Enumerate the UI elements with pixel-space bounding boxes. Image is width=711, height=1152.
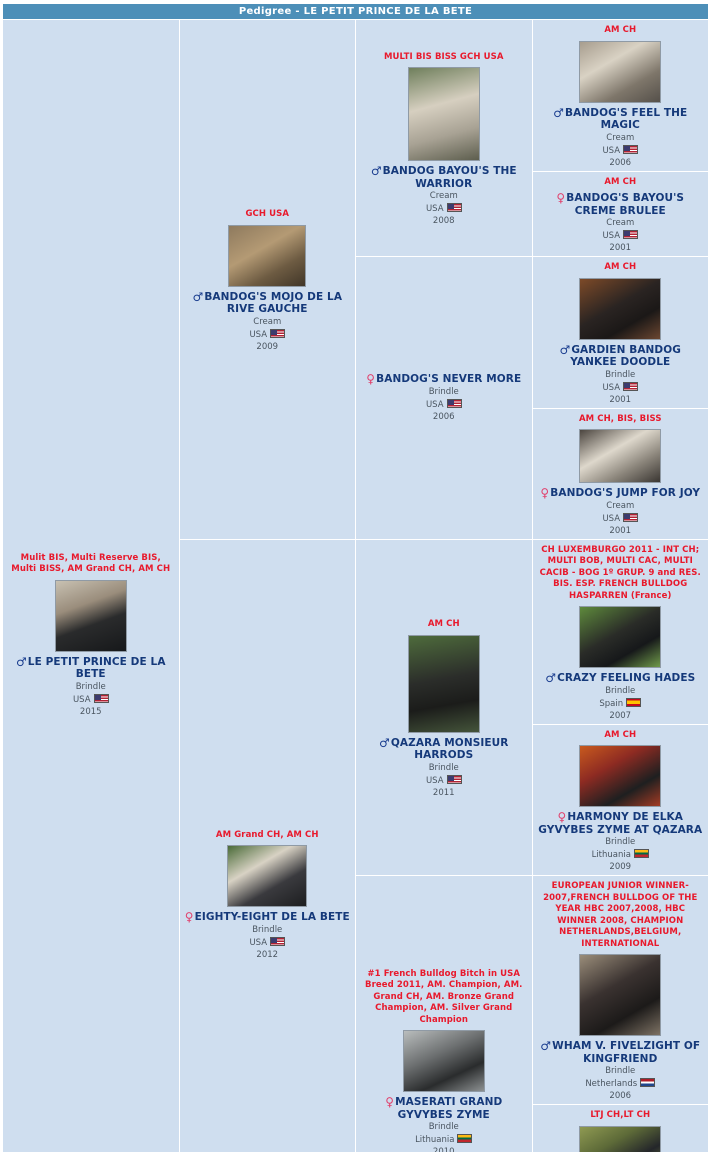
male-symbol-icon: ♂ bbox=[379, 736, 391, 750]
pedigree-row: Mulit BIS, Multi Reserve BIS, Multi BISS… bbox=[3, 20, 709, 172]
dog-color: Brindle bbox=[536, 370, 706, 381]
dog-country: USA bbox=[359, 775, 529, 787]
generation-2-cell-1[interactable]: AM Grand CH, AM CH♀EIGHTY-EIGHT DE LA BE… bbox=[179, 539, 356, 1152]
flag-usa-icon bbox=[447, 203, 462, 212]
country-label: Spain bbox=[599, 699, 623, 709]
dog-year: 2006 bbox=[536, 1091, 706, 1102]
dog-titles: AM CH, BIS, BISS bbox=[540, 414, 702, 426]
country-label: USA bbox=[249, 330, 267, 340]
flag-nld-icon bbox=[640, 1078, 655, 1087]
dog-titles: #1 French Bulldog Bitch in USA Breed 201… bbox=[363, 969, 525, 1027]
country-label: Netherlands bbox=[585, 1079, 637, 1089]
generation-4-cell-1[interactable]: AM CH♀BANDOG'S BAYOU'S CREME BRULEECream… bbox=[532, 171, 709, 257]
generation-4-cell-3[interactable]: AM CH, BIS, BISS♀BANDOG'S JUMP FOR JOYCr… bbox=[532, 408, 709, 539]
male-symbol-icon: ♂ bbox=[192, 290, 204, 304]
dog-photo[interactable] bbox=[579, 278, 661, 340]
flag-usa-icon bbox=[623, 145, 638, 154]
flag-usa-icon bbox=[447, 775, 462, 784]
dog-year: 2001 bbox=[536, 243, 706, 254]
country-label: USA bbox=[602, 146, 620, 156]
dog-year: 2006 bbox=[536, 158, 706, 169]
flag-usa-icon bbox=[623, 513, 638, 522]
flag-usa-icon bbox=[270, 937, 285, 946]
country-label: USA bbox=[426, 400, 444, 410]
dog-name[interactable]: ♀EIGHTY-EIGHT DE LA BETE bbox=[185, 911, 351, 924]
dog-color: Brindle bbox=[359, 763, 529, 774]
generation-1-cell[interactable]: Mulit BIS, Multi Reserve BIS, Multi BISS… bbox=[3, 20, 180, 1152]
female-symbol-icon: ♀ bbox=[185, 910, 195, 924]
dog-country: Lithuania bbox=[536, 849, 706, 861]
flag-ltu-icon bbox=[634, 849, 649, 858]
dog-name[interactable]: ♀MASERATI GRAND GYVYBES ZYME bbox=[361, 1096, 527, 1121]
pedigree-table: Pedigree - LE PETIT PRINCE DE LA BETE Mu… bbox=[2, 3, 709, 1152]
dog-titles: GCH USA bbox=[187, 209, 349, 221]
flag-usa-icon bbox=[623, 382, 638, 391]
male-symbol-icon: ♂ bbox=[540, 1039, 552, 1053]
dog-photo[interactable] bbox=[579, 1126, 661, 1152]
generation-4-cell-7[interactable]: LTJ CH,LT CH♀BALLADA DE ELKA GYVYBES ZYM… bbox=[532, 1105, 709, 1152]
dog-color: Brindle bbox=[359, 1122, 529, 1133]
dog-name[interactable]: ♂CRAZY FEELING HADES bbox=[538, 672, 704, 685]
dog-color: Cream bbox=[183, 317, 353, 328]
generation-2-cell-0[interactable]: GCH USA♂BANDOG'S MOJO DE LA RIVE GAUCHEC… bbox=[179, 20, 356, 540]
dog-photo[interactable] bbox=[228, 225, 306, 287]
dog-country: USA bbox=[536, 145, 706, 157]
dog-year: 2007 bbox=[536, 711, 706, 722]
dog-titles: AM CH bbox=[363, 619, 525, 631]
dog-country: Spain bbox=[536, 698, 706, 710]
pedigree-title: Pedigree - LE PETIT PRINCE DE LA BETE bbox=[3, 4, 709, 20]
country-label: USA bbox=[426, 204, 444, 214]
dog-color: Brindle bbox=[536, 837, 706, 848]
dog-name[interactable]: ♂LE PETIT PRINCE DE LA BETE bbox=[8, 656, 174, 681]
dog-titles: LTJ CH,LT CH bbox=[540, 1110, 702, 1122]
dog-country: Netherlands bbox=[536, 1078, 706, 1090]
dog-color: Brindle bbox=[536, 686, 706, 697]
generation-4-cell-6[interactable]: EUROPEAN JUNIOR WINNER-2007,FRENCH BULLD… bbox=[532, 876, 709, 1105]
dog-name[interactable]: ♂BANDOG BAYOU'S THE WARRIOR bbox=[361, 165, 527, 190]
dog-country: USA bbox=[536, 382, 706, 394]
pedigree-page: Pedigree - LE PETIT PRINCE DE LA BETE Mu… bbox=[0, 0, 711, 1152]
dog-color: Cream bbox=[359, 191, 529, 202]
dog-name[interactable]: ♀BANDOG'S JUMP FOR JOY bbox=[538, 487, 704, 500]
dog-country: USA bbox=[359, 399, 529, 411]
generation-3-cell-0[interactable]: MULTI BIS BISS GCH USA♂BANDOG BAYOU'S TH… bbox=[356, 20, 533, 257]
dog-titles: AM Grand CH, AM CH bbox=[187, 830, 349, 842]
dog-titles: MULTI BIS BISS GCH USA bbox=[363, 52, 525, 64]
female-symbol-icon: ♀ bbox=[385, 1095, 395, 1109]
country-label: USA bbox=[602, 231, 620, 241]
dog-name[interactable]: ♂BANDOG'S MOJO DE LA RIVE GAUCHE bbox=[185, 291, 351, 316]
male-symbol-icon: ♂ bbox=[16, 655, 28, 669]
generation-3-cell-3[interactable]: #1 French Bulldog Bitch in USA Breed 201… bbox=[356, 876, 533, 1152]
dog-photo[interactable] bbox=[408, 635, 480, 733]
generation-3-cell-1[interactable]: ♀BANDOG'S NEVER MOREBrindleUSA2006 bbox=[356, 257, 533, 540]
dog-titles: CH LUXEMBURGO 2011 - INT CH; MULTI BOB, … bbox=[540, 545, 702, 603]
dog-year: 2006 bbox=[359, 412, 529, 423]
country-label: Lithuania bbox=[592, 850, 631, 860]
dog-country: USA bbox=[6, 694, 176, 706]
dog-year: 2008 bbox=[359, 216, 529, 227]
dog-name[interactable]: ♀BANDOG'S BAYOU'S CREME BRULEE bbox=[538, 192, 704, 217]
female-symbol-icon: ♀ bbox=[558, 810, 568, 824]
dog-country: USA bbox=[183, 937, 353, 949]
country-label: Lithuania bbox=[415, 1135, 454, 1145]
dog-color: Brindle bbox=[359, 387, 529, 398]
dog-color: Cream bbox=[536, 501, 706, 512]
male-symbol-icon: ♂ bbox=[371, 164, 383, 178]
dog-photo[interactable] bbox=[579, 954, 661, 1036]
dog-titles: AM CH bbox=[540, 177, 702, 189]
generation-4-cell-5[interactable]: AM CH♀HARMONY DE ELKA GYVYBES ZYME AT QA… bbox=[532, 724, 709, 876]
flag-ltu-icon bbox=[457, 1134, 472, 1143]
flag-usa-icon bbox=[623, 230, 638, 239]
dog-year: 2010 bbox=[359, 1147, 529, 1152]
dog-name[interactable]: ♂QAZARA MONSIEUR HARRODS bbox=[361, 737, 527, 762]
male-symbol-icon: ♂ bbox=[545, 671, 557, 685]
dog-color: Cream bbox=[536, 218, 706, 229]
country-label: USA bbox=[602, 383, 620, 393]
flag-usa-icon bbox=[447, 399, 462, 408]
dog-country: USA bbox=[536, 513, 706, 525]
country-label: USA bbox=[73, 695, 91, 705]
generation-4-cell-0[interactable]: AM CH♂BANDOG'S FEEL THE MAGICCreamUSA200… bbox=[532, 20, 709, 172]
dog-photo[interactable] bbox=[227, 845, 307, 907]
dog-year: 2011 bbox=[359, 788, 529, 799]
dog-name[interactable]: ♀HARMONY DE ELKA GYVYBES ZYME AT QAZARA bbox=[538, 811, 704, 836]
flag-usa-icon bbox=[270, 329, 285, 338]
country-label: USA bbox=[602, 514, 620, 524]
country-label: USA bbox=[426, 776, 444, 786]
dog-country: USA bbox=[536, 230, 706, 242]
dog-photo[interactable] bbox=[579, 429, 661, 483]
dog-year: 2012 bbox=[183, 950, 353, 961]
dog-color: Cream bbox=[536, 133, 706, 144]
dog-titles: Mulit BIS, Multi Reserve BIS, Multi BISS… bbox=[10, 553, 172, 576]
dog-name[interactable]: ♂BANDOG'S FEEL THE MAGIC bbox=[538, 107, 704, 132]
generation-4-cell-2[interactable]: AM CH♂GARDIEN BANDOG YANKEE DOODLEBrindl… bbox=[532, 257, 709, 409]
dog-photo[interactable] bbox=[579, 606, 661, 668]
dog-country: USA bbox=[359, 203, 529, 215]
dog-photo[interactable] bbox=[403, 1030, 485, 1092]
dog-year: 2009 bbox=[183, 342, 353, 353]
flag-esp-icon bbox=[626, 698, 641, 707]
female-symbol-icon: ♀ bbox=[540, 486, 550, 500]
male-symbol-icon: ♂ bbox=[559, 343, 571, 357]
dog-photo[interactable] bbox=[55, 580, 127, 652]
dog-country: Lithuania bbox=[359, 1134, 529, 1146]
flag-usa-icon bbox=[94, 694, 109, 703]
dog-year: 2001 bbox=[536, 526, 706, 537]
dog-titles: AM CH bbox=[540, 25, 702, 37]
dog-color: Brindle bbox=[6, 682, 176, 693]
country-label: USA bbox=[249, 938, 267, 948]
female-symbol-icon: ♀ bbox=[556, 191, 566, 205]
dog-color: Brindle bbox=[536, 1066, 706, 1077]
female-symbol-icon: ♀ bbox=[366, 372, 376, 386]
dog-photo[interactable] bbox=[408, 67, 480, 161]
dog-photo[interactable] bbox=[579, 41, 661, 103]
generation-3-cell-2[interactable]: AM CH♂QAZARA MONSIEUR HARRODSBrindleUSA2… bbox=[356, 539, 533, 876]
dog-year: 2001 bbox=[536, 395, 706, 406]
dog-titles: AM CH bbox=[540, 730, 702, 742]
dog-color: Brindle bbox=[183, 925, 353, 936]
dog-name[interactable]: ♀BANDOG'S NEVER MORE bbox=[361, 373, 527, 386]
dog-name[interactable]: ♂GARDIEN BANDOG YANKEE DOODLE bbox=[538, 344, 704, 369]
dog-year: 2015 bbox=[6, 707, 176, 718]
dog-country: USA bbox=[183, 329, 353, 341]
dog-year: 2009 bbox=[536, 862, 706, 873]
dog-titles: AM CH bbox=[540, 262, 702, 274]
dog-titles: EUROPEAN JUNIOR WINNER-2007,FRENCH BULLD… bbox=[540, 881, 702, 950]
male-symbol-icon: ♂ bbox=[553, 106, 565, 120]
generation-4-cell-4[interactable]: CH LUXEMBURGO 2011 - INT CH; MULTI BOB, … bbox=[532, 539, 709, 724]
dog-photo[interactable] bbox=[579, 745, 661, 807]
dog-name[interactable]: ♂WHAM V. FIVELZIGHT OF KINGFRIEND bbox=[538, 1040, 704, 1065]
